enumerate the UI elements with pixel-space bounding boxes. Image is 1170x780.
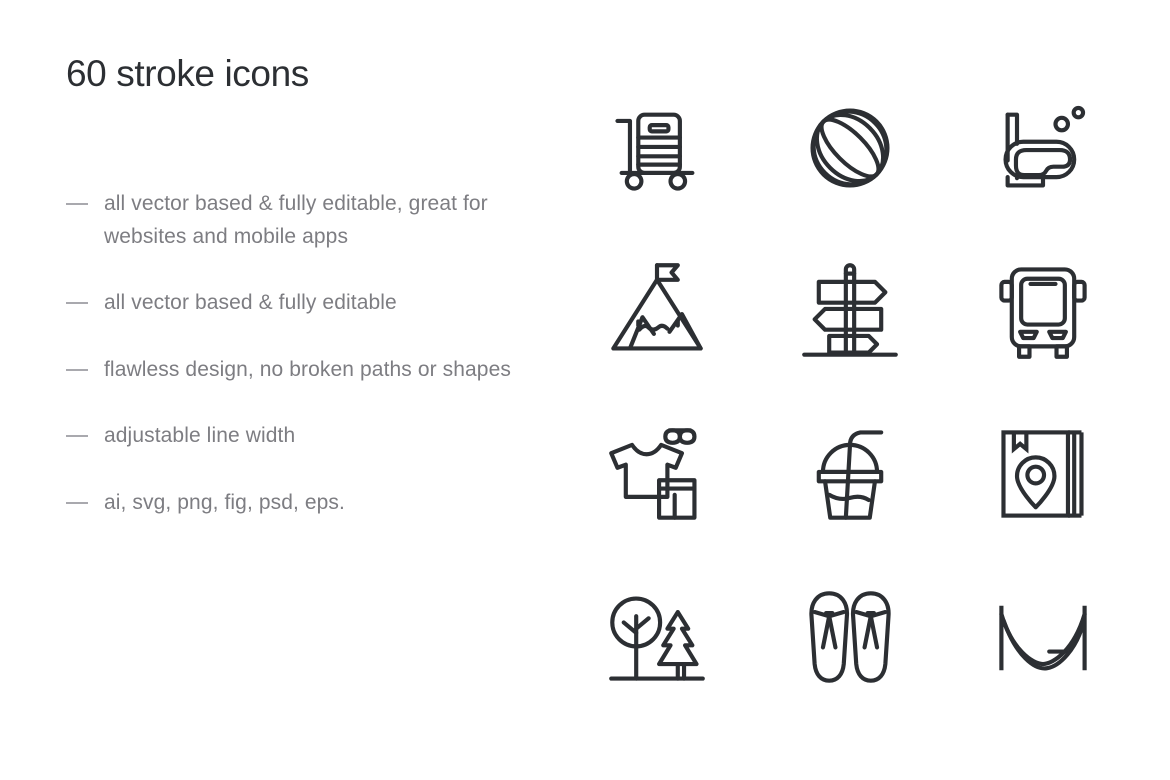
signpost-icon — [798, 259, 902, 363]
em-dash-icon — [66, 435, 88, 437]
icon-cell — [947, 555, 1140, 718]
luggage-trolley-icon — [605, 96, 709, 200]
list-item: all vector based & fully editable, great… — [66, 188, 536, 253]
icon-cell — [753, 229, 946, 392]
feature-text: all vector based & fully editable, great… — [104, 188, 536, 253]
snorkel-mask-icon — [991, 96, 1095, 200]
feature-list: all vector based & fully editable, great… — [66, 188, 536, 553]
list-item: ai, svg, png, fig, psd, eps. — [66, 487, 536, 520]
park-trees-icon — [605, 585, 709, 689]
list-item: flawless design, no broken paths or shap… — [66, 354, 536, 387]
em-dash-icon — [66, 502, 88, 504]
feature-text: all vector based & fully editable — [104, 287, 397, 320]
bus-icon — [991, 259, 1095, 363]
icon-cell — [560, 66, 753, 229]
icon-cell — [560, 392, 753, 555]
snorkel-mask-icon-cell — [947, 66, 1140, 229]
travel-guidebook-icon — [991, 422, 1095, 526]
icon-cell — [753, 392, 946, 555]
icon-grid — [560, 0, 1170, 780]
summer-clothes-icon — [605, 422, 709, 526]
list-item: all vector based & fully editable — [66, 287, 536, 320]
info-column: 60 stroke icons all vector based & fully… — [0, 0, 560, 780]
icon-cell — [753, 66, 946, 229]
page-title: 60 stroke icons — [66, 46, 560, 96]
icon-cell — [947, 229, 1140, 392]
list-item: adjustable line width — [66, 420, 536, 453]
feature-text: flawless design, no broken paths or shap… — [104, 354, 511, 387]
flip-flops-icon — [798, 585, 902, 689]
em-dash-icon — [66, 203, 88, 205]
feature-text: ai, svg, png, fig, psd, eps. — [104, 487, 345, 520]
mountain-flag-icon — [605, 259, 709, 363]
icon-cell — [947, 392, 1140, 555]
icon-cell — [560, 555, 753, 718]
beach-ball-icon — [798, 96, 902, 200]
hammock-icon — [991, 585, 1095, 689]
icon-cell — [560, 229, 753, 392]
cold-drink-cup-icon — [798, 422, 902, 526]
icon-set-preview-page: 60 stroke icons all vector based & fully… — [0, 0, 1170, 780]
em-dash-icon — [66, 369, 88, 371]
feature-text: adjustable line width — [104, 420, 295, 453]
em-dash-icon — [66, 302, 88, 304]
icon-cell — [753, 555, 946, 718]
